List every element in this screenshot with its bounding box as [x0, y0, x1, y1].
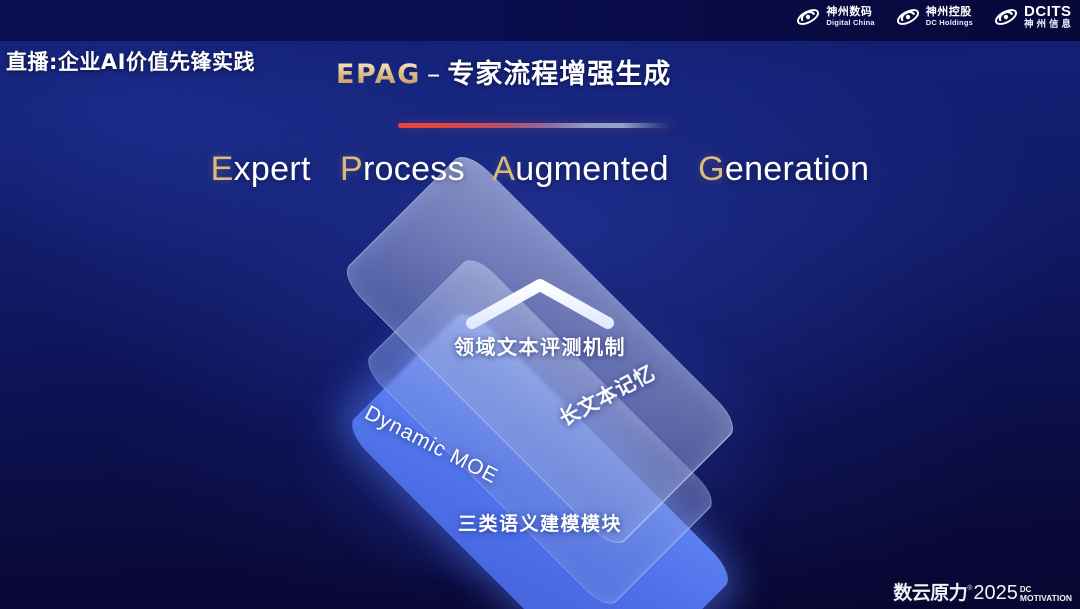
stack-label-bottom: 三类语义建模模块 [0, 509, 1080, 536]
watermark-year: 2025 [973, 583, 1018, 603]
partner-logo-digital-china: 神州数码 Digital China [795, 4, 874, 30]
watermark-logo: 数云原力 ® 2025 DC MOTIVATION [893, 583, 1072, 603]
subtitle-rest: ugmented [515, 150, 669, 188]
partner-name-en: DCITS [1024, 4, 1074, 20]
slide-canvas: 领域文本评测机制 Dynamic MOE 长文本记忆 三类语义建模模块 数云原力… [0, 0, 1080, 609]
partner-text: 神州数码 Digital China [826, 7, 874, 26]
live-banner: 直播:企业AI价值先锋实践 [6, 46, 255, 76]
subtitle-rest: rocess [363, 150, 465, 188]
title-acronym: EPAG [336, 59, 421, 90]
subtitle-cap: P [340, 150, 363, 188]
partner-name-en: DC Holdings [926, 19, 973, 27]
watermark-dc-motivation: DC MOTIVATION [1020, 586, 1072, 604]
title-chinese: 专家流程增强生成 [447, 59, 671, 90]
partner-text: DCITS 神州信息 [1024, 4, 1074, 30]
watermark-dc-line2: MOTIVATION [1020, 594, 1072, 603]
subtitle-word-augmented: Augmented [492, 150, 669, 188]
subtitle-space [679, 150, 689, 188]
partner-name-cn: 神州信息 [1024, 20, 1074, 30]
swirl-icon [895, 4, 921, 30]
partner-logo-group: 神州数码 Digital China 神州控股 DC Holdings [795, 4, 1074, 30]
subtitle-cap: E [211, 150, 234, 188]
page-title: EPAG–专家流程增强生成 [336, 52, 671, 91]
epag-layer-stack: 领域文本评测机制 Dynamic MOE 长文本记忆 三类语义建模模块 [0, 0, 1080, 609]
partner-name-en: Digital China [826, 19, 874, 27]
subtitle-cap: G [698, 150, 725, 188]
stack-label-top: 领域文本评测机制 [0, 331, 1080, 360]
subtitle-rest: xpert [234, 150, 311, 188]
swirl-icon [993, 4, 1019, 30]
subtitle-cap: A [492, 150, 515, 188]
partner-text: 神州控股 DC Holdings [926, 7, 973, 26]
subtitle-space [320, 150, 330, 188]
partner-logo-dc-holdings: 神州控股 DC Holdings [895, 4, 973, 30]
watermark-registered-mark: ® [967, 585, 972, 592]
subtitle-word-process: Process [340, 150, 465, 188]
chevron-up-icon [462, 275, 618, 333]
subtitle-expansion: Expert Process Augmented Generation [0, 150, 1080, 189]
watermark-name-cn: 数云原力 [893, 583, 967, 603]
title-dash: – [427, 59, 442, 90]
subtitle-word-expert: Expert [211, 150, 311, 188]
subtitle-word-generation: Generation [698, 150, 869, 188]
subtitle-rest: eneration [725, 150, 869, 188]
subtitle-space [475, 150, 485, 188]
partner-logo-dcits: DCITS 神州信息 [993, 4, 1074, 30]
title-divider [398, 123, 671, 128]
swirl-icon [795, 4, 821, 30]
